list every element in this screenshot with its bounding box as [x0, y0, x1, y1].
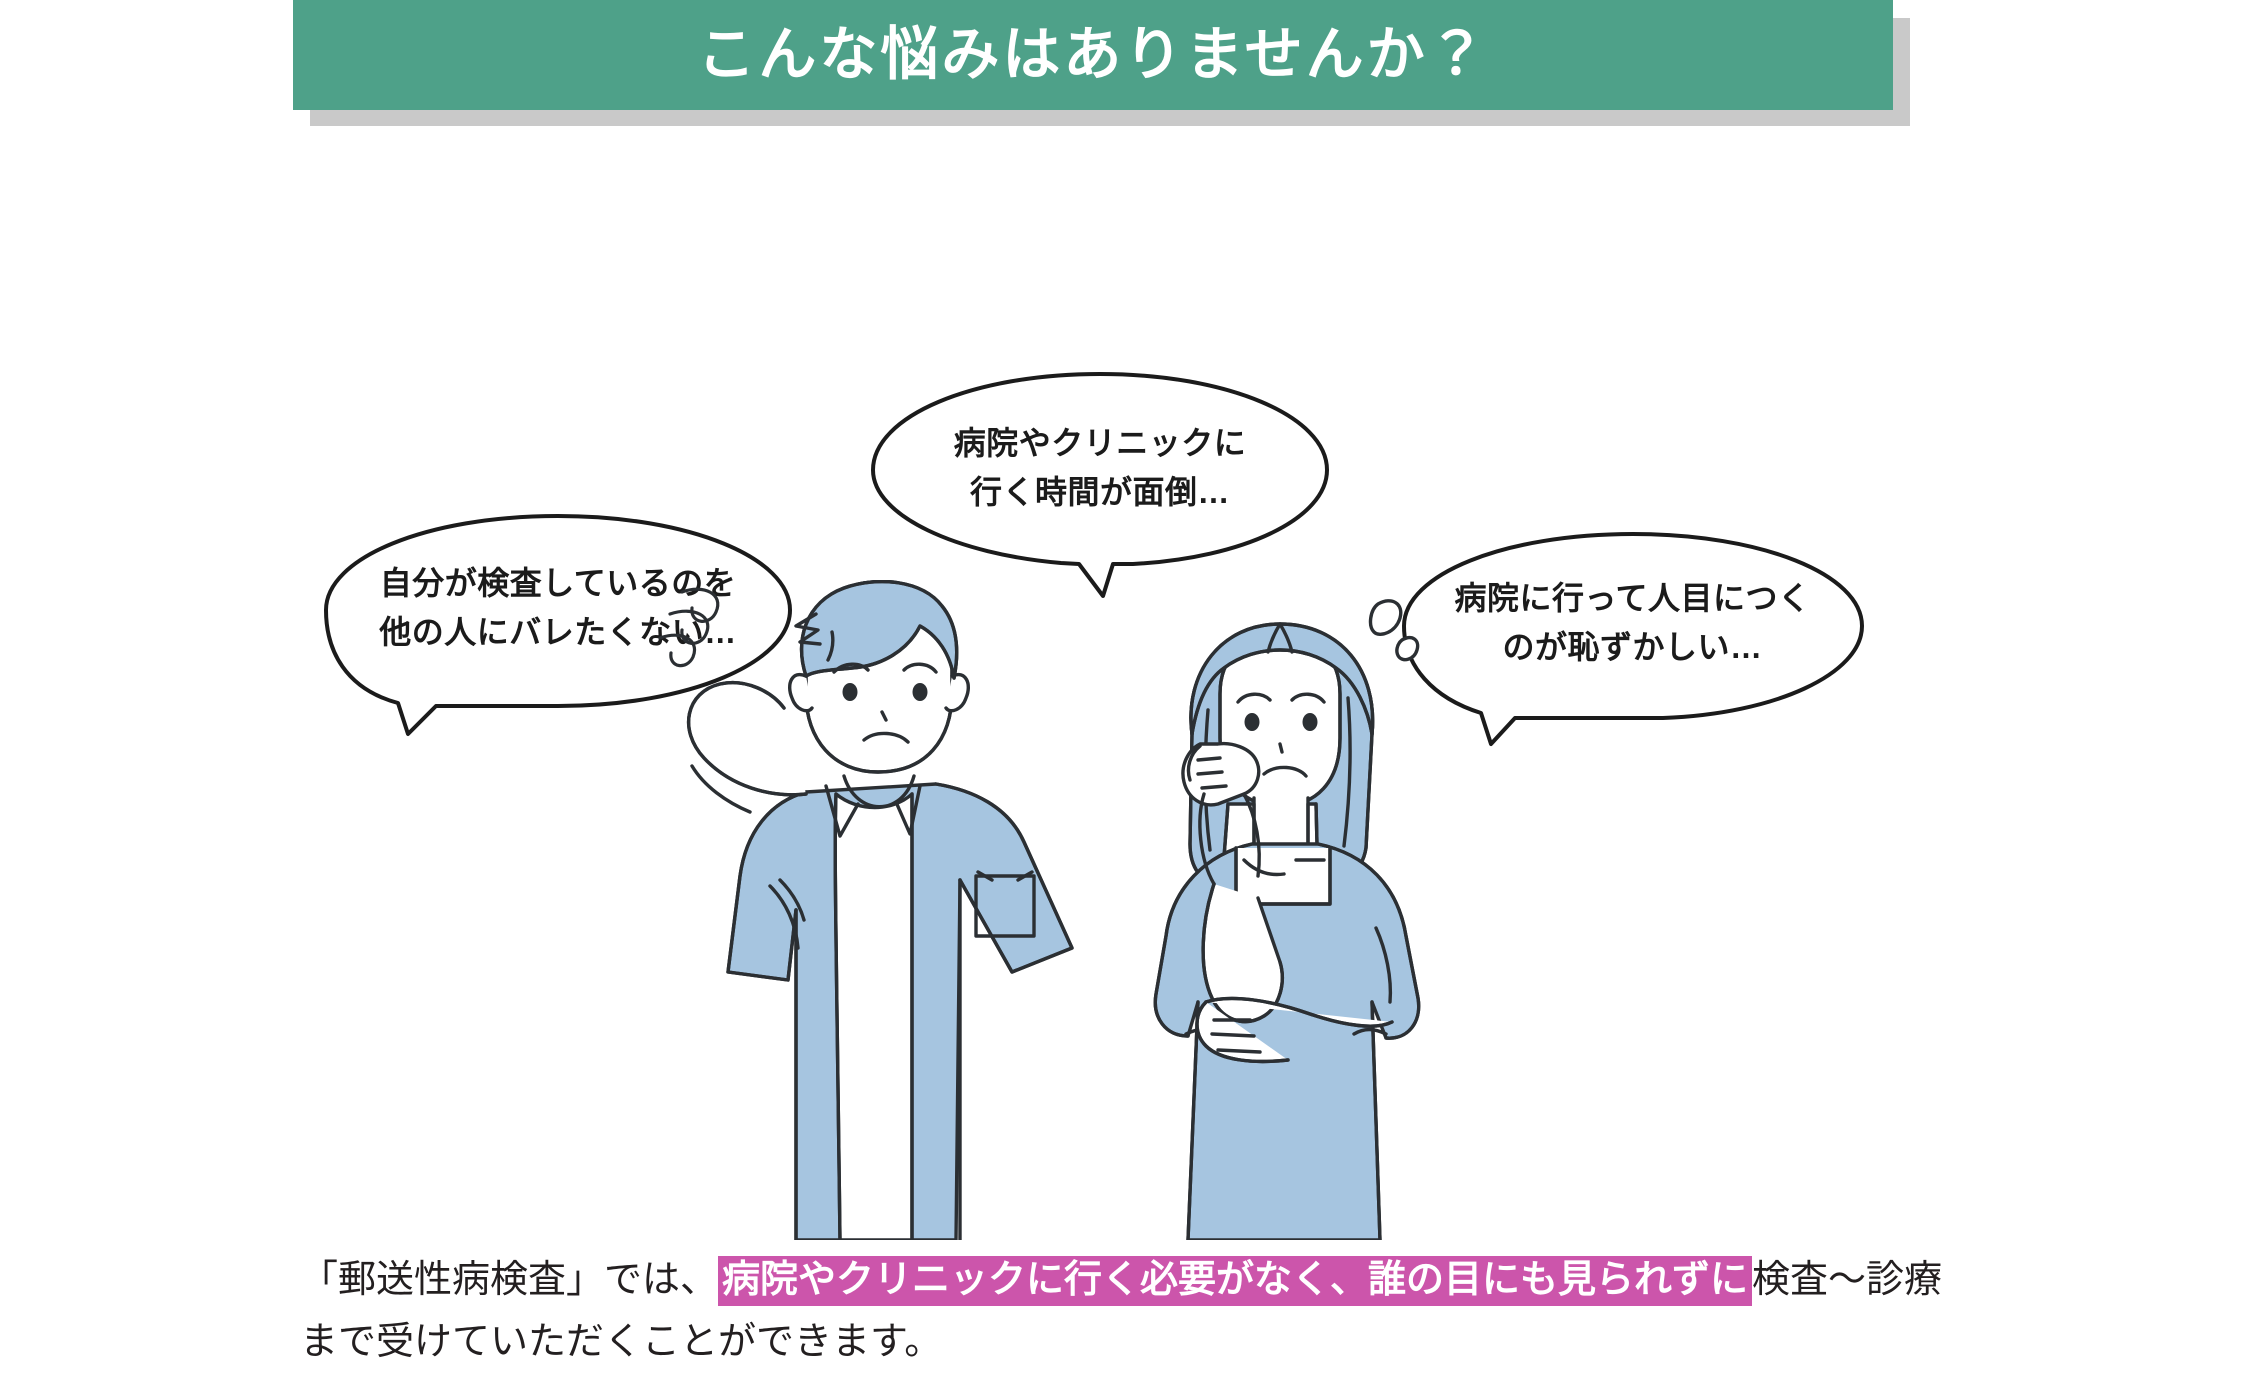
speech-bubble-center-shape: [865, 368, 1335, 598]
people-illustration: [620, 580, 1620, 1240]
illustration-area: 自分が検査しているのを 他の人にバレたくない… 病院やクリニックに 行く時間が面…: [0, 130, 2258, 1230]
speech-bubble-center: 病院やクリニックに 行く時間が面倒…: [865, 368, 1335, 598]
figure-woman: [1155, 601, 1418, 1240]
caption-lead: 「郵送性病検査」では、: [300, 1259, 718, 1301]
spiral-worry-mark: [660, 589, 718, 665]
caption-line-2: まで受けていただくことができます。: [300, 1321, 942, 1363]
sweat-drops: [1371, 601, 1418, 660]
caption-highlight: 病院やクリニックに行く必要がなく、誰の目にも見られずに: [718, 1256, 1752, 1306]
header-banner: こんな悩みはありませんか？: [293, 0, 1893, 110]
figure-man: [689, 582, 1072, 1240]
figures-group: [620, 580, 1620, 1240]
caption-paragraph: 「郵送性病検査」では、病院やクリニックに行く必要がなく、誰の目にも見られずに検査…: [300, 1250, 2000, 1373]
caption-tail: 検査〜診療: [1752, 1259, 1942, 1301]
page-title: こんな悩みはありませんか？: [293, 0, 1893, 110]
